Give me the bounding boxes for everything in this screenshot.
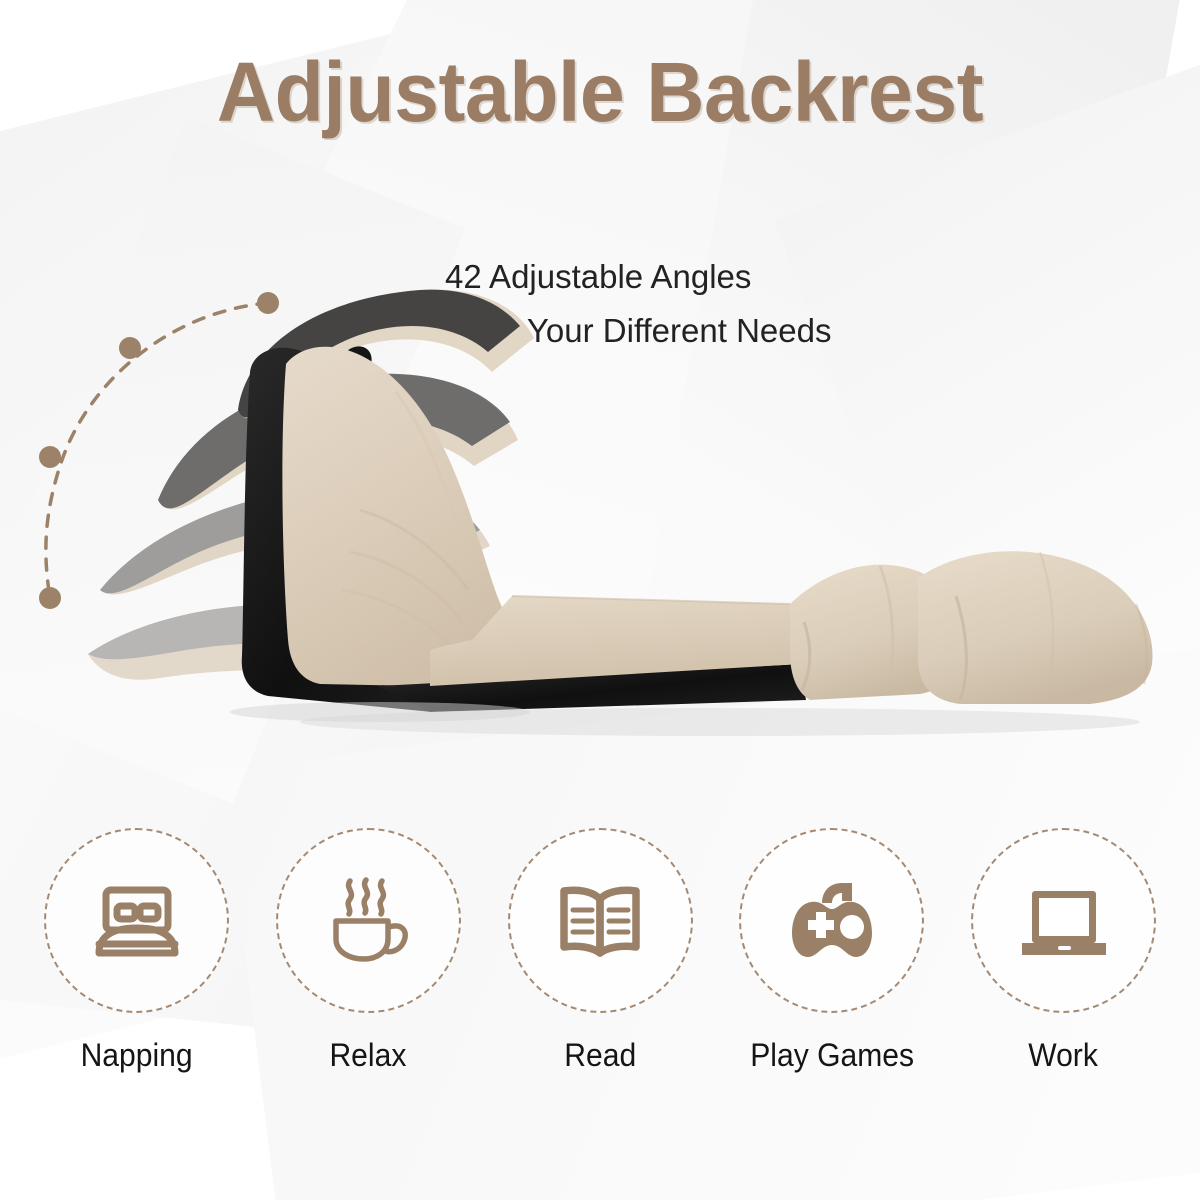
- feature-item-play-games[interactable]: Play Games: [729, 828, 934, 1074]
- feature-circle: [739, 828, 924, 1013]
- infographic-page: Adjustable Backrest 42 Adjustable Angles…: [0, 0, 1200, 1200]
- feature-circle: [276, 828, 461, 1013]
- laptop-icon: [1012, 869, 1116, 973]
- feature-label: Napping: [80, 1037, 192, 1074]
- coffee-cup-icon: [316, 869, 420, 973]
- feature-list: Napping Relax: [0, 828, 1200, 1074]
- feature-circle: [971, 828, 1156, 1013]
- page-title: Adjustable Backrest: [24, 44, 1176, 141]
- cushion-segment-end: [918, 551, 1152, 704]
- open-book-icon: [548, 869, 652, 973]
- feature-item-work[interactable]: Work: [961, 828, 1166, 1074]
- product-illustration: [0, 260, 1200, 780]
- feature-item-read[interactable]: Read: [498, 828, 703, 1074]
- feature-circle: [508, 828, 693, 1013]
- feature-item-napping[interactable]: Napping: [34, 828, 239, 1074]
- bed-icon: [85, 869, 189, 973]
- feature-label: Work: [1029, 1037, 1099, 1074]
- feature-label: Read: [564, 1037, 636, 1074]
- feature-label: Play Games: [750, 1037, 914, 1074]
- gamepad-icon: [780, 869, 884, 973]
- feature-item-relax[interactable]: Relax: [266, 828, 471, 1074]
- feature-circle: [44, 828, 229, 1013]
- feature-label: Relax: [330, 1037, 407, 1074]
